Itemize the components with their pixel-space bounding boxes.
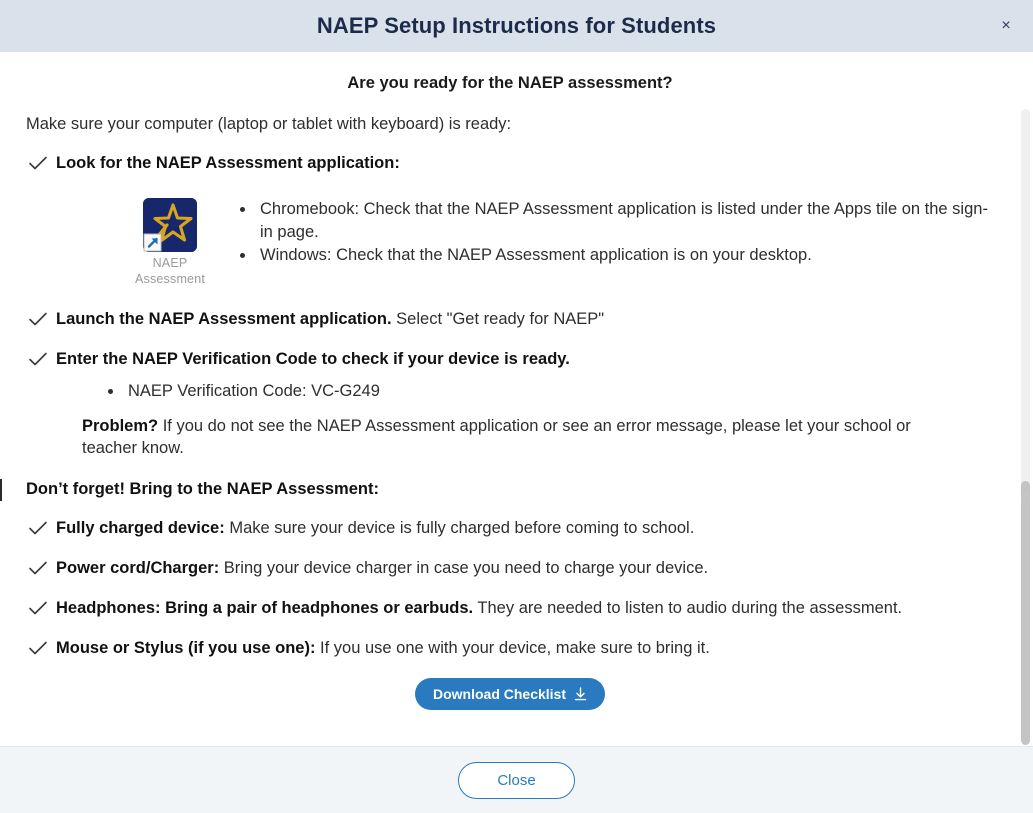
- download-checklist-wrap: Download Checklist: [26, 678, 994, 710]
- bring-item-fully-charged-device: Fully charged device: Make sure your dev…: [26, 517, 994, 539]
- app-icon-wrap: NAEP Assessment: [110, 192, 230, 287]
- section-heading-dont-forget: Don’t forget! Bring to the NAEP Assessme…: [26, 480, 994, 499]
- check-icon: [26, 308, 56, 330]
- check-icon: [26, 152, 56, 174]
- list-item: Chromebook: Check that the NAEP Assessme…: [256, 198, 994, 244]
- step-2-bold: Launch the NAEP Assessment application.: [56, 310, 392, 328]
- step-3-text: Enter the NAEP Verification Code to chec…: [56, 348, 570, 370]
- problem-label: Problem?: [82, 417, 158, 435]
- bring-item-rest: Bring your device charger in case you ne…: [219, 559, 708, 577]
- instruction-step-2: Launch the NAEP Assessment application. …: [26, 308, 994, 330]
- check-icon: [26, 557, 56, 579]
- bring-item-rest: Make sure your device is fully charged b…: [225, 519, 695, 537]
- modal-body: Are you ready for the NAEP assessment? M…: [0, 52, 1033, 746]
- naep-setup-instructions-modal: NAEP Setup Instructions for Students × A…: [0, 0, 1033, 813]
- step-3-bold: Enter the NAEP Verification Code to chec…: [56, 350, 570, 368]
- app-icon-label-line2: Assessment: [110, 272, 230, 288]
- app-bullets: Chromebook: Check that the NAEP Assessme…: [230, 192, 994, 266]
- intro-text: Make sure your computer (laptop or table…: [26, 115, 994, 134]
- shortcut-arrow-icon: [144, 234, 161, 251]
- check-icon: [26, 597, 56, 619]
- bring-item-bold: Headphones: Bring a pair of headphones o…: [56, 599, 473, 617]
- download-checklist-button[interactable]: Download Checklist: [415, 678, 605, 710]
- page-scrollbar-thumb[interactable]: [1021, 495, 1030, 745]
- app-icon-label-line1: NAEP: [110, 256, 230, 272]
- check-icon: [26, 637, 56, 659]
- modal-footer: Close: [0, 746, 1033, 813]
- bring-item-mouse-or-stylus: Mouse or Stylus (if you use one): If you…: [26, 637, 994, 659]
- bring-item-headphones: Headphones: Bring a pair of headphones o…: [26, 597, 994, 619]
- close-icon[interactable]: ×: [995, 15, 1017, 37]
- intro-question: Are you ready for the NAEP assessment?: [26, 74, 994, 93]
- bring-item-bold: Fully charged device:: [56, 519, 225, 537]
- bring-item-text: Power cord/Charger: Bring your device ch…: [56, 557, 708, 579]
- page-title: NAEP Setup Instructions for Students: [317, 13, 716, 39]
- naep-assessment-app-icon: [143, 198, 197, 252]
- step-1-text: Look for the NAEP Assessment application…: [56, 152, 400, 174]
- bring-item-rest: If you use one with your device, make su…: [315, 639, 709, 657]
- bring-item-bold: Power cord/Charger:: [56, 559, 219, 577]
- app-icon-label: NAEP Assessment: [110, 256, 230, 287]
- instruction-step-1: Look for the NAEP Assessment application…: [26, 152, 994, 174]
- problem-text: If you do not see the NAEP Assessment ap…: [82, 417, 911, 457]
- download-icon: [574, 687, 587, 701]
- bring-item-bold: Mouse or Stylus (if you use one):: [56, 639, 315, 657]
- verification-code-item: NAEP Verification Code: VC-G249: [124, 382, 994, 401]
- bring-item-text: Fully charged device: Make sure your dev…: [56, 517, 694, 539]
- check-icon: [26, 517, 56, 539]
- app-identification-block: NAEP Assessment Chromebook: Check that t…: [26, 192, 994, 287]
- step-1-bold: Look for the NAEP Assessment application…: [56, 154, 400, 172]
- bring-item-text: Headphones: Bring a pair of headphones o…: [56, 597, 902, 619]
- step-2-rest: Select "Get ready for NAEP": [392, 310, 605, 328]
- bring-item-rest: They are needed to listen to audio durin…: [473, 599, 902, 617]
- modal-header: NAEP Setup Instructions for Students ×: [0, 0, 1033, 52]
- download-checklist-label: Download Checklist: [433, 686, 566, 702]
- bring-item-power-cord-charger: Power cord/Charger: Bring your device ch…: [26, 557, 994, 579]
- bring-item-text: Mouse or Stylus (if you use one): If you…: [56, 637, 710, 659]
- instruction-step-3: Enter the NAEP Verification Code to chec…: [26, 348, 994, 370]
- close-button[interactable]: Close: [458, 762, 574, 799]
- content-scrollbar[interactable]: [1021, 109, 1030, 543]
- left-edge-marker: [0, 479, 2, 501]
- list-item: Windows: Check that the NAEP Assessment …: [256, 244, 994, 267]
- step-2-text: Launch the NAEP Assessment application. …: [56, 308, 604, 330]
- page-scrollbar[interactable]: [1021, 495, 1030, 745]
- verification-code-block: NAEP Verification Code: VC-G249: [26, 382, 994, 401]
- problem-paragraph: Problem? If you do not see the NAEP Asse…: [26, 415, 956, 460]
- check-icon: [26, 348, 56, 370]
